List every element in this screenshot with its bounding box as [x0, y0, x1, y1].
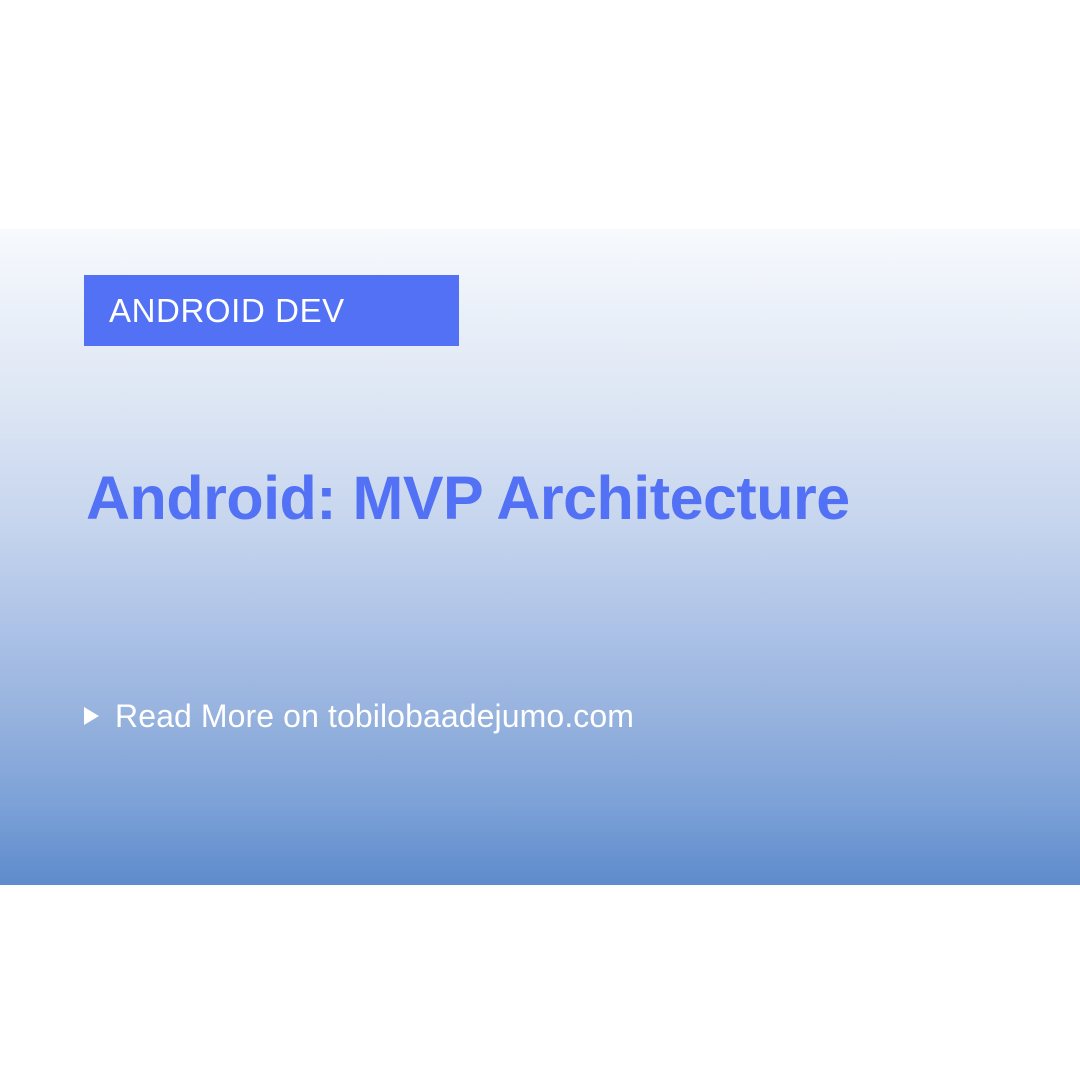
page-title-prefix: Android:	[86, 464, 336, 532]
play-triangle-icon	[84, 707, 99, 725]
page-title: Android: MVP Architecture	[86, 462, 986, 535]
read-more-link[interactable]: Read More on tobilobaadejumo.com	[84, 700, 634, 732]
page-canvas: ANDROID DEV Android: MVP Architecture Re…	[0, 0, 1080, 1080]
category-badge-label: ANDROID DEV	[109, 294, 345, 327]
read-more-label: Read More on tobilobaadejumo.com	[115, 700, 634, 732]
page-title-main: MVP Architecture	[336, 464, 850, 532]
category-badge: ANDROID DEV	[84, 275, 459, 346]
